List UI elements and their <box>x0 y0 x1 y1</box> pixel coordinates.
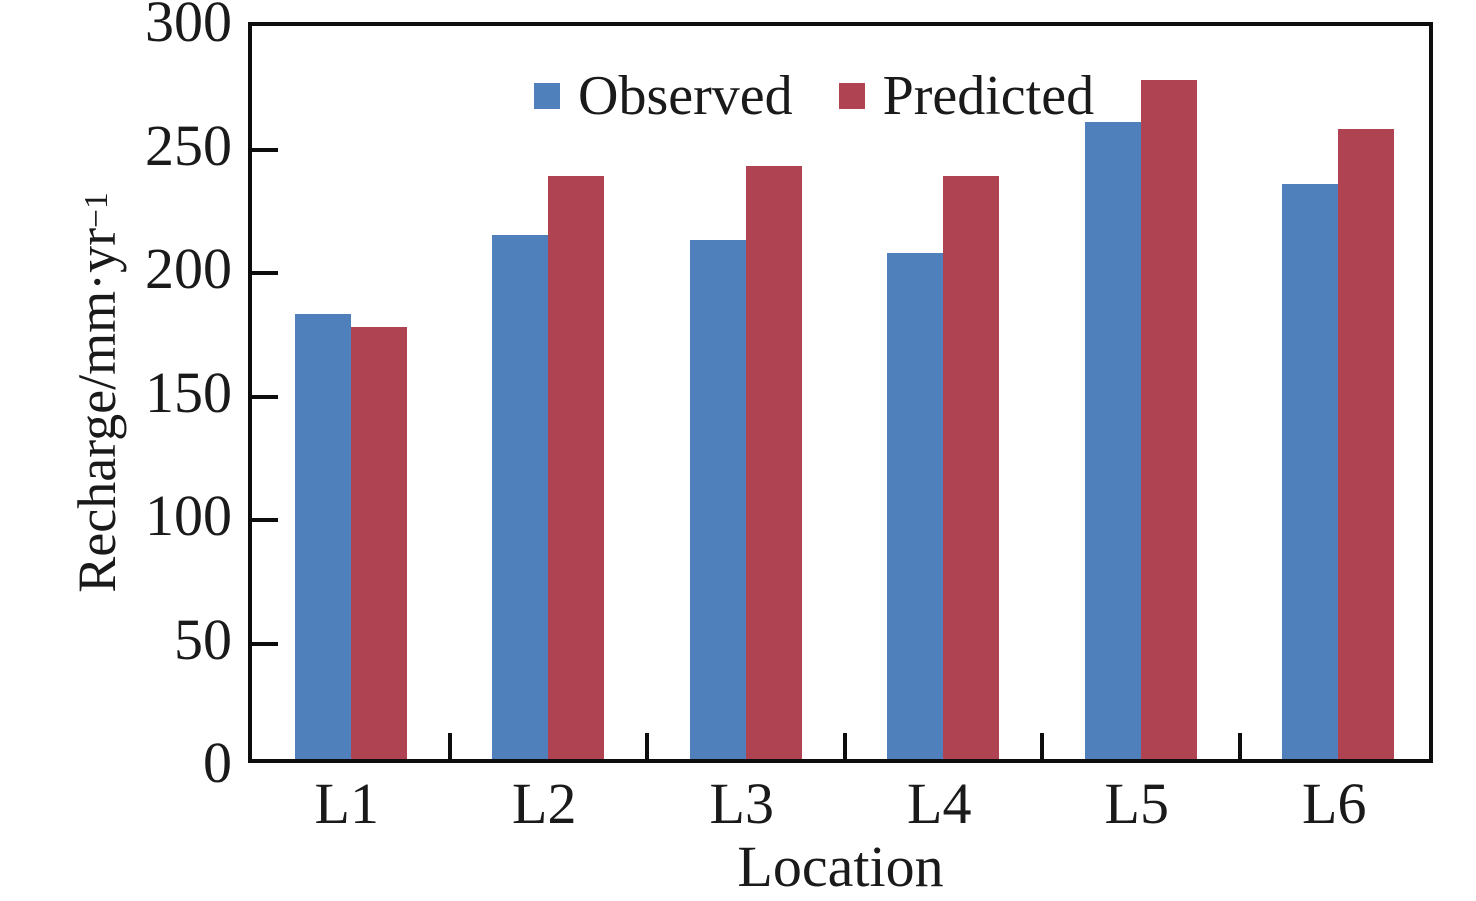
y-tick-label: 300 <box>32 0 232 51</box>
x-axis-title: Location <box>248 838 1433 896</box>
chart-legend: ObservedPredicted <box>534 68 1094 124</box>
x-tick-mark <box>1040 733 1044 759</box>
y-tick-mark <box>252 148 278 152</box>
bar-l4-predicted[interactable] <box>943 176 999 759</box>
legend-entry-observed[interactable]: Observed <box>534 68 793 124</box>
y-tick-label: 50 <box>32 611 232 669</box>
y-tick-label: 0 <box>32 734 232 792</box>
bar-l2-observed[interactable] <box>492 235 548 759</box>
y-tick-mark <box>252 271 278 275</box>
observed-swatch <box>534 83 560 109</box>
y-tick-label: 100 <box>32 487 232 545</box>
bar-l6-predicted[interactable] <box>1338 129 1394 759</box>
plot-area: ObservedPredicted <box>248 22 1433 763</box>
bar-l1-observed[interactable] <box>295 314 351 759</box>
y-tick-label: 200 <box>32 240 232 298</box>
y-tick-label: 150 <box>32 364 232 422</box>
bar-l5-predicted[interactable] <box>1141 80 1197 759</box>
x-tick-label-l6: L6 <box>1234 775 1434 833</box>
predicted-swatch <box>839 83 865 109</box>
bar-l5-observed[interactable] <box>1085 122 1141 759</box>
legend-entry-predicted[interactable]: Predicted <box>839 68 1094 124</box>
x-tick-mark <box>1238 733 1242 759</box>
legend-label-predicted: Predicted <box>883 68 1094 124</box>
legend-label-observed: Observed <box>578 68 793 124</box>
x-tick-label-l2: L2 <box>444 775 644 833</box>
bar-l3-observed[interactable] <box>690 240 746 759</box>
x-tick-label-l3: L3 <box>642 775 842 833</box>
y-tick-label: 250 <box>32 117 232 175</box>
bar-chart-figure: Recharge/mm·yr−1 050100150200250300 Obse… <box>0 0 1476 901</box>
x-tick-mark <box>843 733 847 759</box>
bar-l4-observed[interactable] <box>887 253 943 759</box>
bar-l6-observed[interactable] <box>1282 184 1338 760</box>
bar-l1-predicted[interactable] <box>351 327 407 759</box>
x-tick-label-l1: L1 <box>247 775 447 833</box>
x-tick-mark <box>448 733 452 759</box>
y-tick-mark <box>252 518 278 522</box>
x-tick-label-l4: L4 <box>839 775 1039 833</box>
x-tick-label-l5: L5 <box>1037 775 1237 833</box>
x-tick-mark <box>645 733 649 759</box>
y-tick-mark <box>252 395 278 399</box>
bar-l2-predicted[interactable] <box>548 176 604 759</box>
bar-l3-predicted[interactable] <box>746 166 802 759</box>
y-tick-mark <box>252 642 278 646</box>
